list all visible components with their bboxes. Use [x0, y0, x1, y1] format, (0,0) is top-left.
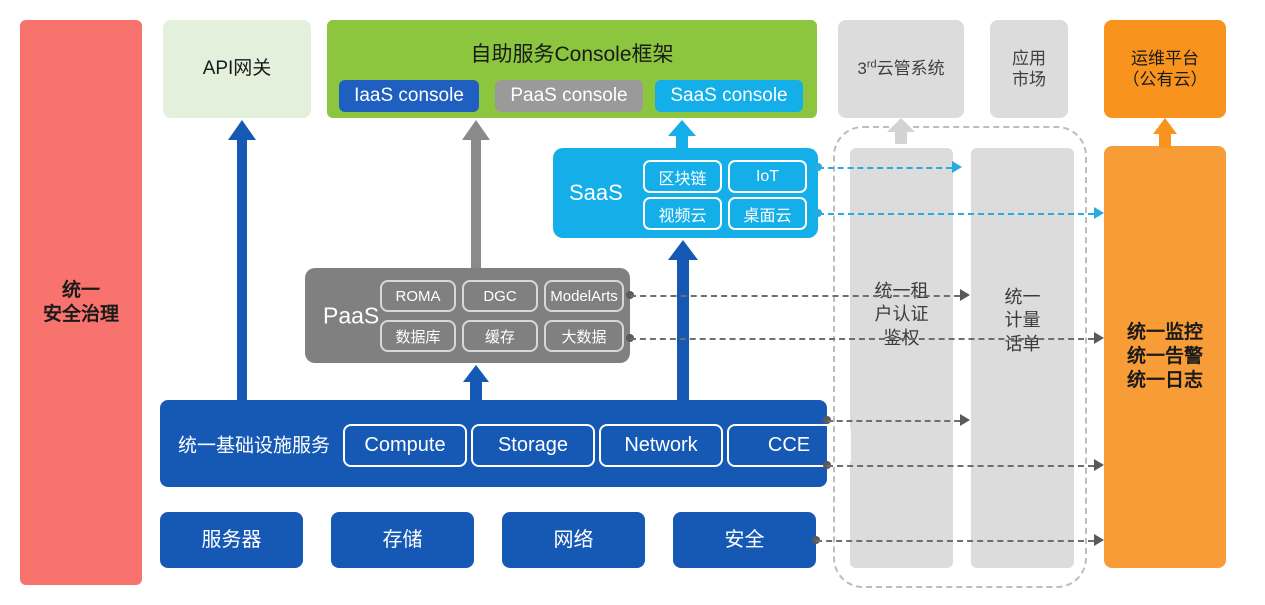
arrow-saas-to-console [668, 120, 696, 148]
resource-network-label: 网络 [554, 528, 594, 553]
resource-box-storage[interactable]: 存储 [331, 512, 474, 568]
infra-chip-network-label: Network [624, 434, 697, 457]
dashed-infra-to-metering [827, 420, 960, 422]
arrow-infra-to-paas [462, 365, 490, 401]
resource-box-server[interactable]: 服务器 [160, 512, 303, 568]
paas-chip-roma[interactable]: ROMA [380, 280, 456, 312]
dashed-paas-to-ops [630, 338, 1094, 340]
auth-line-1: 统一租 [850, 280, 953, 303]
arrow-shared-to-third-party [887, 118, 915, 144]
arrow-infra-to-saas [668, 240, 698, 400]
paas-chip-cache-label: 缓存 [485, 326, 515, 347]
saas-console-label: SaaS console [670, 84, 787, 108]
api-gateway-box: API网关 [163, 20, 311, 118]
ops-panel-line-2: 统一告警 [1127, 345, 1203, 369]
saas-chip-blockchain[interactable]: 区块链 [643, 160, 722, 193]
app-market-line-2: 市场 [1012, 69, 1046, 90]
paas-chip-bigdata-label: 大数据 [561, 326, 606, 347]
paas-console-label: PaaS console [510, 84, 627, 108]
paas-chip-cache[interactable]: 缓存 [462, 320, 538, 352]
saas-chip-video-cloud[interactable]: 视频云 [643, 197, 722, 230]
saas-chip-iot-label: IoT [756, 168, 779, 186]
paas-chip-database-label: 数据库 [395, 326, 440, 347]
paas-block: PaaS ROMA DGC ModelArts 数据库 缓存 大数据 [305, 268, 630, 363]
paas-chip-roma-label: ROMA [396, 288, 441, 305]
dashed-paas-to-auth [630, 295, 960, 297]
saas-console-chip[interactable]: SaaS console [655, 80, 803, 112]
paas-chip-modelarts-label: ModelArts [550, 288, 618, 305]
self-service-console-frame: 自助服务Console框架 IaaS console PaaS console … [327, 20, 817, 118]
security-line-2: 安全治理 [43, 303, 119, 327]
security-line-1: 统一 [43, 279, 119, 303]
infra-chip-compute-label: Compute [364, 434, 445, 457]
third-party-superscript: rd [867, 59, 877, 71]
arrowhead-saas-to-metering [952, 161, 962, 173]
arrow-infra-to-api-gateway [228, 120, 256, 400]
saas-chip-desktop-cloud[interactable]: 桌面云 [728, 197, 807, 230]
billing-line-1: 统一 [971, 286, 1074, 309]
billing-line-2: 计量 [971, 309, 1074, 332]
infra-chip-storage-label: Storage [498, 434, 568, 457]
unified-metering-billing-label: 统一 计量 话单 [971, 286, 1074, 356]
unified-tenant-auth-column [850, 148, 953, 568]
dashed-infra-to-ops [827, 465, 1094, 467]
api-gateway-label: API网关 [203, 57, 272, 81]
paas-console-chip[interactable]: PaaS console [495, 80, 643, 112]
paas-label: PaaS [323, 302, 379, 329]
saas-chip-blockchain-label: 区块链 [658, 165, 706, 189]
ops-platform-public-cloud-box: 运维平台 （公有云） [1104, 20, 1226, 118]
arrowhead-paas-to-ops [1094, 332, 1104, 344]
arrow-paas-to-console [462, 120, 490, 268]
ops-panel-line-1: 统一监控 [1127, 321, 1203, 345]
infra-chip-cce-label: CCE [768, 434, 810, 457]
paas-chip-dgc-label: DGC [483, 288, 516, 305]
infra-chip-cce[interactable]: CCE [727, 424, 851, 467]
ops-top-line-2: （公有云） [1123, 69, 1208, 90]
resource-box-network[interactable]: 网络 [502, 512, 645, 568]
saas-chip-desktop-cloud-label: 桌面云 [743, 202, 791, 226]
infra-label: 统一基础设施服务 [178, 430, 330, 457]
billing-line-3: 话单 [971, 333, 1074, 356]
app-market-line-1: 应用 [1012, 48, 1046, 69]
paas-chip-dgc[interactable]: DGC [462, 280, 538, 312]
auth-line-2: 户认证 [850, 303, 953, 326]
app-market-box: 应用 市场 [990, 20, 1068, 118]
iaas-console-label: IaaS console [354, 84, 464, 108]
saas-chip-video-cloud-label: 视频云 [658, 202, 706, 226]
arrowhead-resources-to-ops [1094, 534, 1104, 546]
infra-chip-network[interactable]: Network [599, 424, 723, 467]
saas-label: SaaS [569, 180, 623, 206]
saas-block: SaaS 区块链 IoT 视频云 桌面云 [553, 148, 818, 238]
unified-infrastructure-block: 统一基础设施服务 Compute Storage Network CCE [160, 400, 827, 487]
arrowhead-paas-to-auth [960, 289, 970, 301]
arrow-ops-panel-to-ops-platform [1153, 118, 1177, 148]
arrowhead-saas-to-ops [1094, 207, 1104, 219]
infra-chip-storage[interactable]: Storage [471, 424, 595, 467]
resource-storage-label: 存储 [383, 528, 423, 553]
console-frame-title: 自助服务Console框架 [327, 42, 817, 68]
unified-metering-billing-column [971, 148, 1074, 568]
third-party-suffix: 云管系统 [877, 59, 945, 78]
unified-security-governance-panel: 统一 安全治理 [20, 20, 142, 585]
third-party-prefix: 3 [857, 59, 866, 78]
resource-box-security[interactable]: 安全 [673, 512, 816, 568]
iaas-console-chip[interactable]: IaaS console [339, 80, 479, 112]
arrowhead-infra-to-ops [1094, 459, 1104, 471]
dashed-saas-to-ops [818, 213, 1094, 215]
ops-panel-line-3: 统一日志 [1127, 369, 1203, 393]
paas-chip-modelarts[interactable]: ModelArts [544, 280, 624, 312]
dashed-resources-to-ops [816, 540, 1094, 542]
unified-ops-panel: 统一监控 统一告警 统一日志 [1104, 146, 1226, 568]
paas-chip-bigdata[interactable]: 大数据 [544, 320, 624, 352]
resource-server-label: 服务器 [202, 528, 262, 553]
dashed-saas-to-metering [818, 167, 952, 169]
architecture-diagram: 统一 安全治理 API网关 自助服务Console框架 IaaS console… [0, 0, 1265, 605]
arrowhead-infra-to-metering [960, 414, 970, 426]
third-party-cloud-management-box: 3rd云管系统 [838, 20, 964, 118]
paas-chip-database[interactable]: 数据库 [380, 320, 456, 352]
ops-top-line-1: 运维平台 [1123, 48, 1208, 69]
resource-security-label: 安全 [725, 528, 765, 553]
saas-chip-iot[interactable]: IoT [728, 160, 807, 193]
infra-chip-compute[interactable]: Compute [343, 424, 467, 467]
